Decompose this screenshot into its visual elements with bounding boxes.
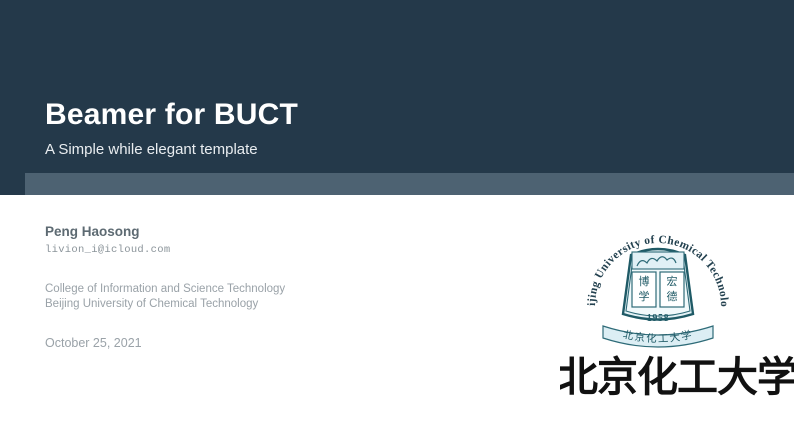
affiliation: College of Information and Science Techn… [45, 282, 425, 313]
affiliation-line-2: Beijing University of Chemical Technolog… [45, 297, 425, 313]
header-accent-bar [25, 173, 794, 195]
slide-date: October 25, 2021 [45, 335, 425, 351]
page-subtitle: A Simple while elegant template [45, 142, 258, 159]
seal-motto-right-char2: 德 [667, 289, 678, 303]
author-name: Peng Haosong [45, 224, 425, 241]
page-title: Beamer for BUCT [45, 98, 298, 131]
seal-motto-left-char2: 学 [639, 289, 650, 303]
author-email: livion_i@icloud.com [45, 244, 425, 258]
university-wordmark: 北京化工大学 [560, 348, 794, 404]
title-slide: Beamer for BUCT A Simple while elegant t… [0, 0, 794, 447]
header-left-block [0, 173, 25, 195]
author-block: Peng Haosong livion_i@icloud.com College… [45, 224, 425, 351]
affiliation-line-1: College of Information and Science Techn… [45, 282, 425, 298]
university-logo: Beijing University of Chemical Technolog… [540, 222, 794, 412]
seal-year: 1958 [647, 313, 669, 324]
wordmark-calligraphy: 北京化工大学 [560, 348, 794, 404]
wordmark-text: 北京化工大学 [560, 353, 794, 401]
seal-motto-left-char1: 博 [639, 275, 650, 288]
seal-motto-right-char1: 宏 [667, 274, 678, 288]
university-seal-icon: Beijing University of Chemical Technolog… [575, 222, 741, 354]
